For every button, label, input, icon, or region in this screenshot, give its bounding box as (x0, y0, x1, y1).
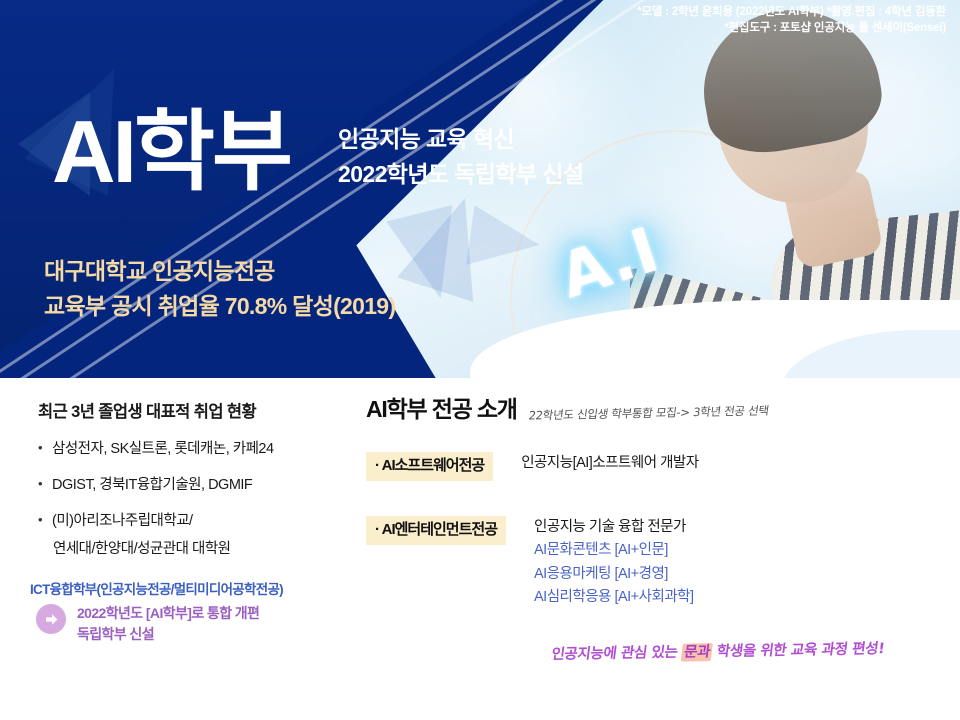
decorative-triangle (466, 205, 544, 274)
list-item-continuation: 연세대/한양대/성균관대 대학원 (52, 539, 358, 561)
ict-department-label: ICT융합학부(인공지능전공/멀티미디어공학전공) (30, 578, 283, 598)
credits-line-2: *편집도구 : 포토샵 인공지능 툴 센세이(Sensei) (637, 20, 946, 36)
hand-note-highlight: 문과 (681, 643, 713, 662)
merge-line-1: 2022학년도 [AI학부]로 통합 개편 (77, 603, 259, 624)
list-item-main: 삼성전자, SK실트론, 롯데캐논, 카페24 (52, 441, 274, 457)
major-row: · AI엔터테인먼트전공 인공지능 기술 융합 전문가 AI문화콘텐츠 [AI+… (366, 516, 694, 610)
major-description: 인공지능[AI]소프트웨어 개발자 (521, 452, 698, 481)
major-description: 인공지능 기술 융합 전문가 AI문화콘텐츠 [AI+인문] AI응용마케팅 [… (534, 516, 694, 610)
merge-line-2: 독립학부 신설 (77, 624, 259, 645)
list-item: DGIST, 경북IT융합기술원, DGMIF (38, 475, 358, 497)
content-area: 최근 3년 졸업생 대표적 취업 현황 삼성전자, SK실트론, 롯데캐논, 카… (0, 378, 960, 720)
arrow-right-circle-icon (36, 604, 66, 634)
major-lead: 인공지능[AI]소프트웨어 개발자 (521, 452, 698, 475)
hero-tagline: 대구대학교 인공지능전공 교육부 공시 취업율 70.8% 달성(2019) (44, 254, 395, 324)
employment-list: 삼성전자, SK실트론, 롯데캐논, 카페24 DGIST, 경북IT융합기술원… (38, 439, 358, 561)
hero-tagline-line-1: 대구대학교 인공지능전공 (44, 254, 395, 289)
hero-banner: A.I *모델 : 2학년 윤희용 (2022년도 AI학부) *촬영.편집 :… (0, 0, 960, 378)
major-track: AI문화콘텐츠 [AI+인문] (534, 539, 694, 562)
merge-text: 2022학년도 [AI학부]로 통합 개편 독립학부 신설 (77, 602, 259, 645)
majors-header: AI학부 전공 소개 22학년도 신입생 학부통합 모집-> 3학년 전공 선택 (366, 390, 946, 424)
poster-root: A.I *모델 : 2학년 윤희용 (2022년도 AI학부) *촬영.편집 :… (0, 0, 960, 720)
hero-subtitle: 인공지능 교육 혁신 2022학년도 독립학부 신설 (338, 122, 583, 192)
merge-announcement: 2022학년도 [AI학부]로 통합 개편 독립학부 신설 (36, 602, 259, 645)
hand-note-before: 인공지능에 관심 있는 (550, 645, 683, 663)
hand-note-after: 학생을 위한 교육 과정 편성! (711, 641, 885, 660)
major-track: AI응용마케팅 [AI+경영] (534, 563, 694, 586)
employment-column: 최근 3년 졸업생 대표적 취업 현황 삼성전자, SK실트론, 롯데캐논, 카… (38, 398, 358, 575)
list-item: (미)아리조나주립대학교/ 연세대/한양대/성균관대 대학원 (38, 511, 358, 562)
majors-column: AI학부 전공 소개 22학년도 신입생 학부통합 모집-> 3학년 전공 선택… (366, 390, 946, 424)
hero-tagline-line-2: 교육부 공시 취업율 70.8% 달성(2019) (44, 289, 395, 324)
majors-heading: AI학부 전공 소개 (366, 390, 517, 424)
page-title: AI학부 (52, 108, 290, 196)
list-item-main: DGIST, 경북IT융합기술원, DGMIF (52, 477, 252, 493)
credits-line-1: *모델 : 2학년 윤희용 (2022년도 AI학부) *촬영.편집 : 4학년… (637, 4, 946, 20)
employment-heading: 최근 3년 졸업생 대표적 취업 현황 (38, 398, 358, 422)
list-item: 삼성전자, SK실트론, 롯데캐논, 카페24 (38, 439, 358, 461)
major-lead: 인공지능 기술 융합 전문가 (534, 516, 694, 539)
credits-block: *모델 : 2학년 윤희용 (2022년도 AI학부) *촬영.편집 : 4학년… (637, 4, 946, 37)
major-name-chip: · AI엔터테인먼트전공 (366, 516, 506, 545)
major-track: AI심리학응용 [AI+사회과학] (534, 586, 694, 609)
list-item-main: (미)아리조나주립대학교/ (52, 513, 193, 529)
major-row: · AI소프트웨어전공 인공지능[AI]소프트웨어 개발자 (366, 452, 699, 481)
majors-handwritten-note: 22학년도 신입생 학부통합 모집-> 3학년 전공 선택 (527, 402, 769, 423)
hero-subtitle-line-1: 인공지능 교육 혁신 (338, 122, 583, 157)
major-name-chip: · AI소프트웨어전공 (366, 452, 493, 481)
hero-subtitle-line-2: 2022학년도 독립학부 신설 (338, 157, 583, 192)
curriculum-handwritten-note: 인공지능에 관심 있는 문과 학생을 위한 교육 과정 편성! (550, 637, 885, 664)
